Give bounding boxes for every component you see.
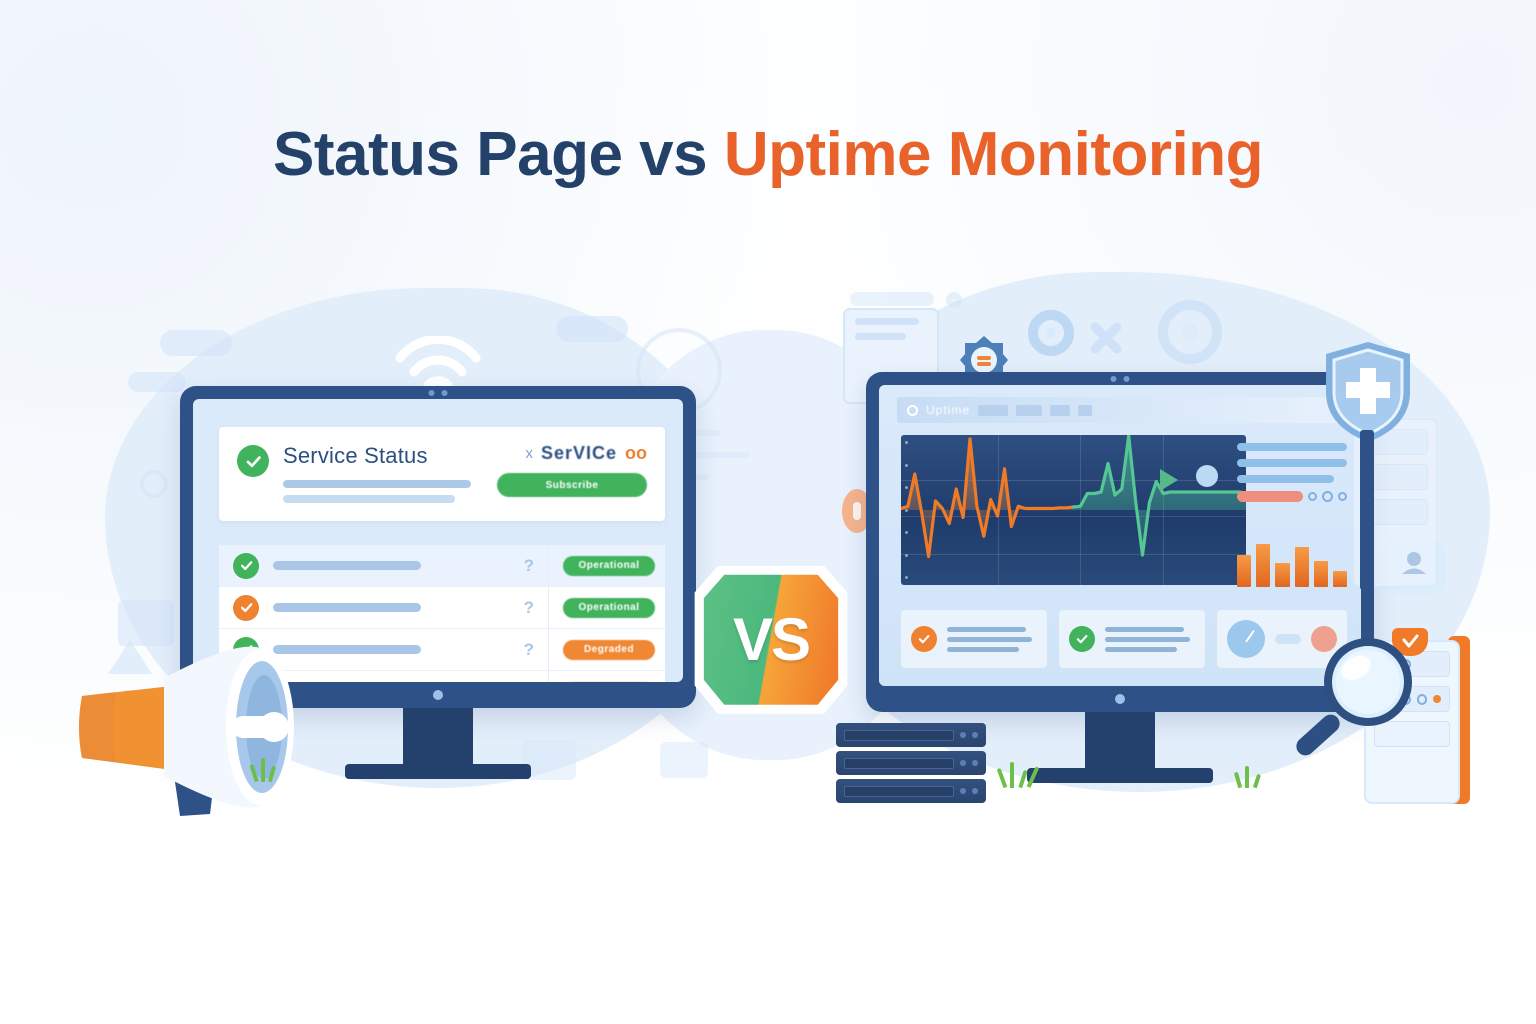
square-decor-4 — [660, 742, 708, 778]
gear-icon-2 — [1158, 300, 1222, 364]
ring-decor-1 — [140, 470, 168, 498]
monitor-neck — [403, 708, 473, 766]
magnifier-icon — [1290, 630, 1420, 770]
page-title: Status Page vs Uptime Monitoring — [0, 122, 1536, 187]
status-dot — [1196, 465, 1218, 487]
status-page-header-card: Service Status x SerVICe oo Subscribe — [219, 427, 665, 521]
cloud-decor-3 — [556, 316, 628, 342]
status-page-brand: x SerVICe oo — [497, 443, 647, 464]
vs-badge-label: VS — [688, 556, 854, 722]
status-badge — [563, 682, 655, 683]
status-badge: Operational — [563, 556, 655, 576]
check-circle-icon-header — [237, 445, 269, 477]
shield-pole — [1360, 430, 1374, 590]
page-title-part-2: Uptime Monitoring — [724, 120, 1263, 189]
cloud-decor-1 — [160, 330, 232, 356]
megaphone-icon — [60, 636, 330, 821]
status-badge: Operational — [563, 598, 655, 618]
monitor-base — [1027, 768, 1213, 783]
grass-decor-3 — [1236, 766, 1272, 788]
row-number: ? — [524, 598, 534, 618]
chart-series-svg — [901, 435, 1246, 585]
illustration-canvas: Status Page vs Uptime Monitoring Service… — [0, 0, 1536, 1024]
brand-suffix: oo — [625, 443, 647, 464]
row-number: ? — [524, 556, 534, 576]
grass-decor-2 — [1000, 762, 1048, 788]
cloud-decor-2 — [128, 372, 186, 392]
page-title-part-1: Status Page vs — [273, 120, 724, 189]
server-rack-icon — [836, 723, 986, 805]
dashboard-cards — [901, 610, 1347, 668]
subscribe-button[interactable]: Subscribe — [497, 473, 647, 497]
brand-name: SerVICe — [541, 443, 617, 464]
check-circle-icon — [911, 626, 937, 652]
status-page-title: Service Status — [283, 443, 483, 469]
incidents-bar-chart — [1237, 535, 1347, 587]
status-badge: Degraded — [563, 640, 655, 660]
dashboard-top-bar: Uptime — [897, 397, 1343, 423]
check-circle-icon — [233, 595, 259, 621]
ring-decor-3 — [946, 292, 962, 308]
brand-x-mark: x — [525, 445, 533, 462]
dashboard-title: Uptime — [926, 403, 970, 417]
monitoring-dashboard: Uptime — [879, 385, 1361, 686]
monitor-neck — [1085, 712, 1155, 770]
gauge-icon — [1227, 620, 1265, 658]
list-item[interactable] — [1059, 610, 1205, 668]
webcam-dots — [1111, 376, 1130, 382]
webcam-dots — [429, 390, 448, 396]
dashboard-side-lines — [1237, 443, 1347, 502]
line-decor-4 — [850, 292, 934, 306]
circle-outline-icon — [907, 405, 918, 416]
list-item[interactable] — [901, 610, 1047, 668]
grass-decor-1 — [252, 758, 292, 782]
play-icon[interactable] — [1160, 469, 1178, 491]
close-icon-decor — [1086, 318, 1126, 358]
table-row[interactable]: ? Operational — [219, 587, 665, 629]
table-row[interactable]: ? Operational — [219, 545, 665, 587]
row-number: 3 — [525, 682, 534, 683]
vs-badge: VS — [688, 556, 854, 722]
monitor-base — [345, 764, 531, 779]
shield-health-icon — [1322, 340, 1414, 444]
gear-icon-1 — [1028, 310, 1074, 356]
check-circle-icon — [233, 553, 259, 579]
check-circle-icon — [1069, 626, 1095, 652]
response-time-chart — [901, 435, 1246, 585]
row-number: ? — [524, 640, 534, 660]
